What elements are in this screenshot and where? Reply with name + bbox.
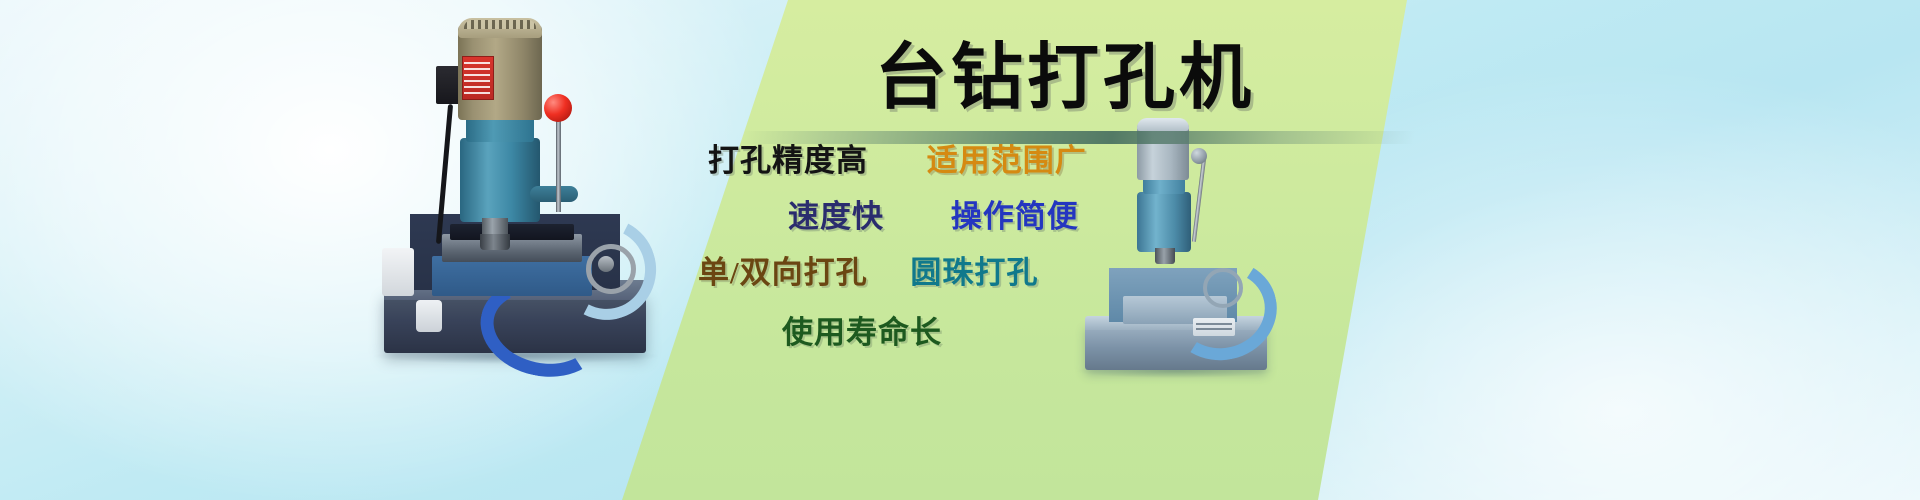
feature-row-1: 打孔精度高 适用范围广 xyxy=(660,144,1420,178)
machine-warning-label-text xyxy=(464,62,490,94)
machine-handwheel-hub xyxy=(598,256,614,272)
feature-row-2: 速度快 操作简便 xyxy=(660,200,1420,234)
machine-junction-box xyxy=(436,66,460,104)
bench-drill-press-photo-large xyxy=(370,18,660,363)
machine-lever-hub xyxy=(530,186,578,202)
feature-item-long-lifespan: 使用寿命长 xyxy=(782,316,942,350)
machine-small-box xyxy=(416,300,442,332)
machine-chuck xyxy=(480,234,510,250)
feature-row-4: 使用寿命长 xyxy=(660,316,1420,350)
feature-item-ball-drilling: 圆珠打孔 xyxy=(910,256,1038,290)
feature-item-fast-speed: 速度快 xyxy=(788,200,884,234)
product-banner: 台钻打孔机 打孔精度高 适用范围广 速度快 操作简便 单/双向打孔 圆珠打孔 使… xyxy=(0,0,1920,500)
machine-motor-cap xyxy=(1137,118,1189,131)
feature-list: 打孔精度高 适用范围广 速度快 操作简便 单/双向打孔 圆珠打孔 使用寿命长 xyxy=(660,144,1420,404)
banner-title: 台钻打孔机 xyxy=(755,38,1375,118)
feature-row-3: 单/双向打孔 圆珠打孔 xyxy=(660,256,1420,290)
feature-item-wide-application: 适用范围广 xyxy=(927,144,1087,178)
machine-control-box xyxy=(382,248,414,296)
feature-item-drilling-precision: 打孔精度高 xyxy=(708,144,868,178)
machine-lever-knob xyxy=(544,94,572,122)
machine-vise-jaw xyxy=(450,224,574,240)
machine-drill-head xyxy=(460,138,540,222)
feature-item-easy-operate: 操作简便 xyxy=(951,200,1079,234)
feature-item-single-double-drilling: 单/双向打孔 xyxy=(698,256,868,290)
machine-motor-vents xyxy=(464,20,536,29)
